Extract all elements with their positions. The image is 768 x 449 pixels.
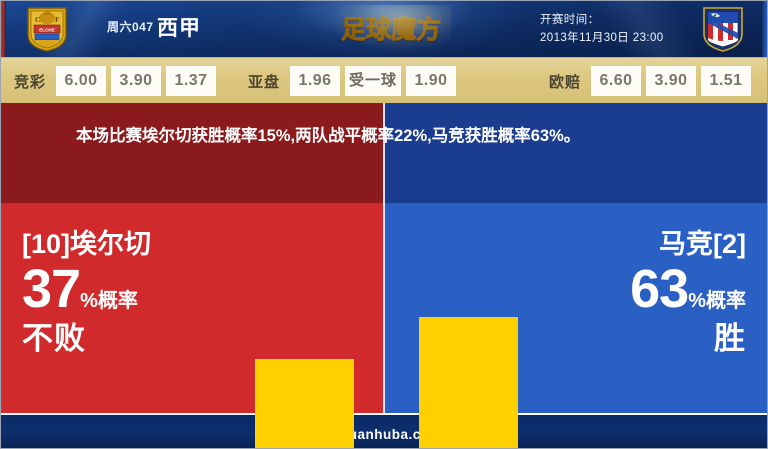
away-probability-bar: [419, 317, 518, 449]
home-percent-value: 37: [22, 262, 80, 316]
svg-text:ELCHE: ELCHE: [39, 28, 55, 33]
home-summary-band: [0, 103, 384, 203]
away-team-name: 马竞[2]: [516, 228, 746, 260]
odds-cell[interactable]: 3.90: [111, 66, 161, 96]
match-probability-infographic: C F ELCHE 周六047 西甲 足球魔方 开赛时间： 2013年11月30…: [0, 0, 768, 449]
away-summary-band: [384, 103, 768, 203]
odds-group-label: 亚盘: [248, 71, 280, 92]
odds-group-label: 竞彩: [14, 71, 46, 92]
away-outcome-label: 胜: [516, 320, 746, 358]
brand-logo-text: 足球魔方: [341, 10, 441, 46]
home-percent-row: 37 %概率: [22, 262, 252, 316]
atletico-madrid-crest-icon: [700, 5, 746, 53]
elche-cf-crest-icon: C F ELCHE: [24, 5, 70, 53]
odds-group-yapan: 亚盘 1.96 受一球 1.90: [248, 58, 456, 104]
odds-handicap-cell[interactable]: 受一球: [345, 66, 401, 96]
footer-bar: 以下情报为【huanhuba.com】会员专享: [0, 414, 768, 449]
match-day-label: 周六047: [107, 18, 154, 35]
away-team-stats: 马竞[2] 63 %概率 胜: [516, 228, 746, 358]
probability-summary-text: 本场比赛埃尔切获胜概率15%,两队战平概率22%,马竞获胜概率63%。: [76, 122, 700, 150]
home-probability-bar: [255, 359, 354, 449]
header-left-accent: [0, 0, 6, 57]
odds-cell[interactable]: 3.90: [646, 66, 696, 96]
home-percent-suffix: %概率: [80, 291, 138, 314]
away-percent-row: 63 %概率: [516, 262, 746, 316]
odds-cell[interactable]: 1.37: [166, 66, 216, 96]
odds-cell[interactable]: 1.96: [290, 66, 340, 96]
league-name: 西甲: [157, 12, 201, 42]
odds-cell[interactable]: 6.00: [56, 66, 106, 96]
odds-cell[interactable]: 1.90: [406, 66, 456, 96]
odds-group-jingcai: 竞彩 6.00 3.90 1.37: [14, 58, 216, 104]
odds-cell[interactable]: 6.60: [591, 66, 641, 96]
away-percent-suffix: %概率: [688, 291, 746, 314]
svg-text:F: F: [55, 15, 60, 24]
home-team-stats: [10]埃尔切 37 %概率 不败: [22, 228, 252, 358]
home-outcome-label: 不败: [22, 320, 252, 358]
header-bar: C F ELCHE 周六047 西甲 足球魔方 开赛时间： 2013年11月30…: [0, 0, 768, 57]
home-team-name: [10]埃尔切: [22, 228, 252, 260]
site-brand-logo[interactable]: 足球魔方: [328, 8, 454, 48]
odds-group-label: 欧赔: [549, 71, 581, 92]
header-right-accent: [762, 0, 768, 57]
odds-bar: 竞彩 6.00 3.90 1.37 亚盘 1.96 受一球 1.90 欧赔 6.…: [0, 57, 768, 104]
svg-text:C: C: [35, 15, 40, 24]
kickoff-time-value: 2013年11月30日 23:00: [540, 29, 664, 45]
away-percent-value: 63: [630, 262, 688, 316]
odds-cell[interactable]: 1.51: [701, 66, 751, 96]
odds-group-oupei: 欧赔 6.60 3.90 1.51: [549, 58, 751, 104]
kickoff-time-label: 开赛时间：: [540, 11, 600, 27]
